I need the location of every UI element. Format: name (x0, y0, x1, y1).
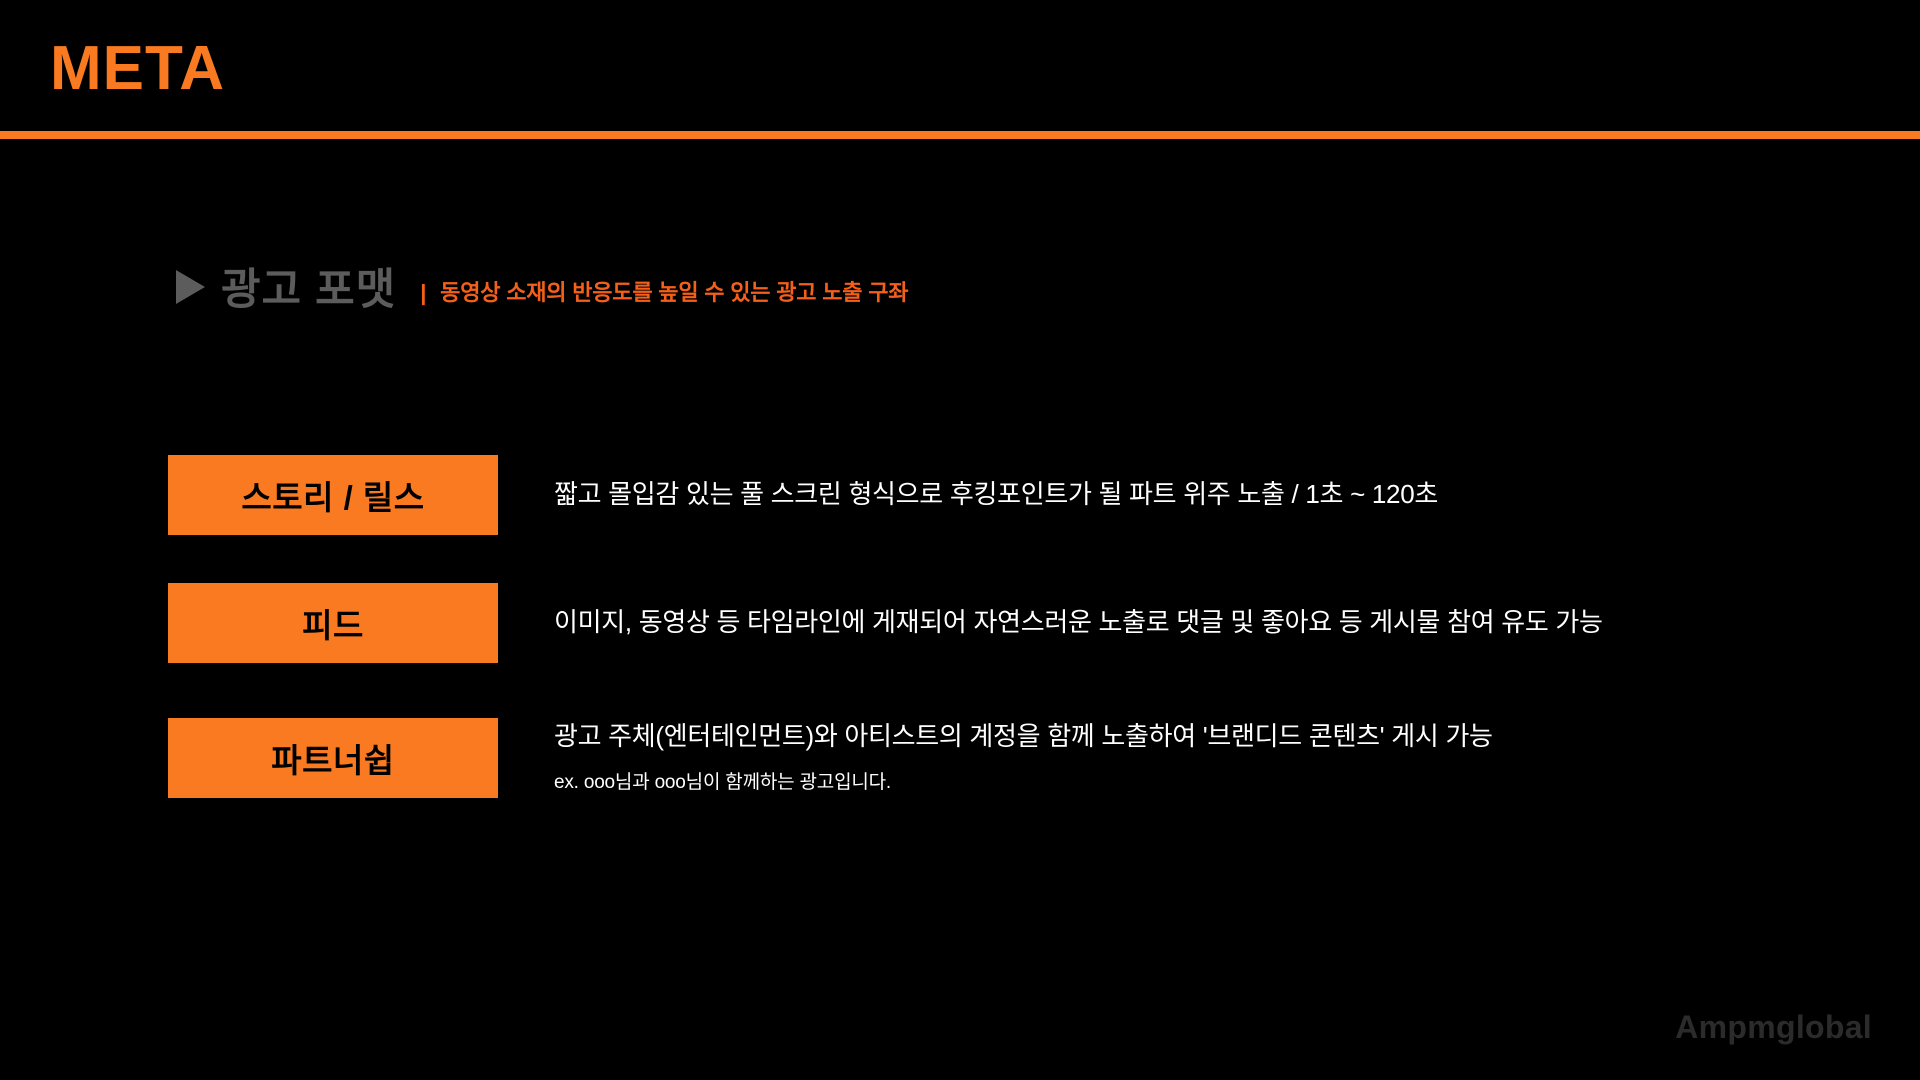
format-row: 피드 이미지, 동영상 등 타임라인에 게재되어 자연스러운 노출로 댓글 및 … (168, 583, 1603, 663)
brand-title: META (50, 36, 225, 101)
format-description-block: 짧고 몰입감 있는 풀 스크린 형식으로 후킹포인트가 될 파트 위주 노출 /… (554, 455, 1438, 535)
format-description-note: ex. ooo님과 ooo님이 함께하는 광고입니다. (554, 770, 1493, 797)
format-description: 광고 주체(엔터테인먼트)와 아티스트의 계정을 함께 노출하여 '브랜디드 콘… (554, 719, 1493, 754)
format-row: 파트너쉽 광고 주체(엔터테인먼트)와 아티스트의 계정을 함께 노출하여 '브… (168, 718, 1493, 798)
format-chip-story-reels[interactable]: 스토리 / 릴스 (168, 455, 498, 535)
section-title: 광고 포맷 (221, 268, 396, 313)
format-chip-partnership[interactable]: 파트너쉽 (168, 718, 498, 798)
format-chip-feed[interactable]: 피드 (168, 583, 498, 663)
header-divider-rule (0, 131, 1920, 139)
format-description-block: 광고 주체(엔터테인먼트)와 아티스트의 계정을 함께 노출하여 '브랜디드 콘… (554, 718, 1493, 798)
format-row: 스토리 / 릴스 짧고 몰입감 있는 풀 스크린 형식으로 후킹포인트가 될 파… (168, 455, 1438, 535)
section-subtitle-text: 동영상 소재의 반응도를 높일 수 있는 광고 노출 구좌 (440, 280, 908, 305)
format-description: 이미지, 동영상 등 타임라인에 게재되어 자연스러운 노출로 댓글 및 좋아요… (554, 605, 1603, 640)
section-subtitle-divider: | (420, 280, 426, 306)
format-description: 짧고 몰입감 있는 풀 스크린 형식으로 후킹포인트가 될 파트 위주 노출 /… (554, 477, 1438, 512)
slide-root: META 광고 포맷 |동영상 소재의 반응도를 높일 수 있는 광고 노출 구… (0, 0, 1920, 1080)
footer-watermark: Ampmglobal (1675, 1009, 1872, 1046)
format-description-block: 이미지, 동영상 등 타임라인에 게재되어 자연스러운 노출로 댓글 및 좋아요… (554, 583, 1603, 663)
section-heading: 광고 포맷 |동영상 소재의 반응도를 높일 수 있는 광고 노출 구좌 (176, 268, 908, 313)
section-subtitle-wrap: |동영상 소재의 반응도를 높일 수 있는 광고 노출 구좌 (420, 280, 908, 306)
play-triangle-icon (176, 270, 205, 304)
